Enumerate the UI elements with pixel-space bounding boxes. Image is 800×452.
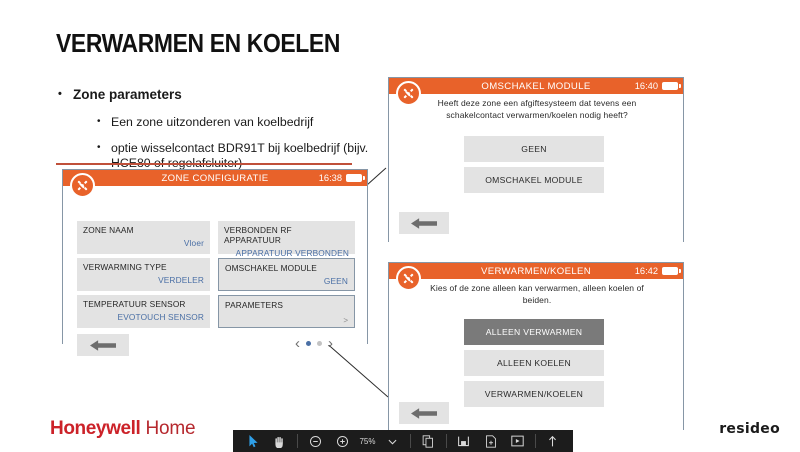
toolbar-separator [297, 434, 298, 448]
tile-zone-naam[interactable]: ZONE NAAM Vloer [77, 221, 210, 254]
tile-label: VERBONDEN RF APPARATUUR [224, 225, 349, 245]
tile-parameters[interactable]: PARAMETERS > [218, 295, 355, 328]
bullet-level2-b: optie wisselcontact BDR91T bij koelbedri… [96, 141, 386, 171]
tile-label: ZONE NAAM [83, 225, 204, 235]
option-alleen-koelen[interactable]: ALLEEN KOELEN [464, 350, 604, 376]
orange-divider [56, 163, 352, 165]
option-verwarmen-koelen[interactable]: VERWARMEN/KOELEN [464, 381, 604, 407]
tile-temperatuur-sensor[interactable]: TEMPERATUUR SENSOR EVOTOUCH SENSOR [77, 295, 210, 328]
option-label: ALLEEN KOELEN [497, 358, 571, 368]
panel-omschakel-module: OMSCHAKEL MODULE 16:40 Heeft deze zone e… [388, 77, 684, 242]
home-wordmark: Home [140, 418, 195, 439]
option-alleen-verwarmen[interactable]: ALLEEN VERWARMEN [464, 319, 604, 345]
honeywell-home-logo: Honeywell Home [50, 418, 195, 440]
tile-value: EVOTOUCH SENSOR [83, 312, 204, 322]
slideshow-icon[interactable] [505, 430, 530, 452]
panel-title: OMSCHAKEL MODULE [481, 81, 590, 92]
honeywell-wordmark: Honeywell [50, 418, 140, 439]
question-text: Heeft deze zone een afgiftesysteem dat t… [429, 98, 645, 121]
arrow-left-icon [89, 339, 117, 352]
toolbar-separator [446, 434, 447, 448]
resideo-logo: resideo [719, 421, 780, 437]
copy-page-icon[interactable] [416, 430, 441, 452]
pager[interactable]: ‹ › [295, 336, 333, 351]
tile-label: OMSCHAKEL MODULE [225, 263, 348, 273]
pager-dot-active[interactable] [306, 341, 311, 346]
option-geen[interactable]: GEEN [464, 136, 604, 162]
tile-verwarming-type[interactable]: VERWARMING TYPE VERDELER [77, 258, 210, 291]
cursor-icon[interactable] [241, 430, 266, 452]
zoom-in-icon[interactable] [330, 430, 355, 452]
save-icon[interactable] [452, 430, 477, 452]
back-button[interactable] [77, 334, 129, 356]
tile-label: TEMPERATUUR SENSOR [83, 299, 204, 309]
panel-verwarmen-koelen: VERWARMEN/KOELEN 16:42 Kies of de zone a… [388, 262, 684, 430]
option-label: OMSCHAKEL MODULE [485, 175, 583, 185]
arrow-left-icon [410, 407, 438, 420]
clock: 16:42 [635, 266, 658, 276]
panel-title: ZONE CONFIGURATIE [161, 173, 268, 184]
zoom-level-label[interactable]: 75% [356, 437, 378, 446]
question-text: Kies of de zone alleen kan verwarmen, al… [425, 283, 649, 306]
toolbar-separator [410, 434, 411, 448]
tile-omschakel-module[interactable]: OMSCHAKEL MODULE GEEN [218, 258, 355, 291]
clock: 16:38 [319, 173, 342, 183]
back-button[interactable] [399, 402, 449, 424]
zoom-out-icon[interactable] [303, 430, 328, 452]
clock: 16:40 [635, 81, 658, 91]
upload-icon[interactable] [540, 430, 565, 452]
option-label: ALLEEN VERWARMEN [486, 327, 583, 337]
tile-verbonden-rf-apparatuur[interactable]: VERBONDEN RF APPARATUUR APPARATUUR VERBO… [218, 221, 355, 254]
tile-value: Vloer [83, 238, 204, 248]
battery-icon [662, 82, 678, 90]
wrench-icon [70, 173, 95, 198]
panel-body: Kies of de zone alleen kan verwarmen, al… [389, 279, 683, 431]
page-title: VERWARMEN EN KOELEN [56, 28, 340, 59]
tile-label: VERWARMING TYPE [83, 262, 204, 272]
tile-value: APPARATUUR VERBONDEN [224, 248, 349, 258]
battery-icon [662, 267, 678, 275]
panel-header: ZONE CONFIGURATIE 16:38 [63, 170, 367, 186]
chevron-down-icon[interactable] [380, 430, 405, 452]
viewer-toolbar[interactable]: 75% [233, 430, 573, 452]
pager-dot[interactable] [317, 341, 322, 346]
tile-value: GEEN [225, 276, 348, 286]
bullet-list: Zone parameters Een zone uitzonderen van… [56, 86, 386, 171]
battery-icon [346, 174, 362, 182]
tile-label: PARAMETERS [225, 300, 348, 310]
bullet-level1: Zone parameters [56, 86, 386, 104]
pager-prev-icon[interactable]: ‹ [295, 336, 300, 351]
add-page-icon[interactable] [478, 430, 503, 452]
pager-next-icon[interactable]: › [328, 336, 333, 351]
panel-title: VERWARMEN/KOELEN [481, 266, 591, 277]
panel-header: OMSCHAKEL MODULE 16:40 [389, 78, 683, 94]
wrench-icon [396, 266, 421, 291]
option-label: GEEN [521, 144, 547, 154]
slide-canvas: VERWARMEN EN KOELEN Zone parameters Een … [0, 0, 800, 452]
panel-body: Heeft deze zone een afgiftesysteem dat t… [389, 94, 683, 243]
back-button[interactable] [399, 212, 449, 234]
panel-body: ZONE NAAM Vloer VERBONDEN RF APPARATUUR … [63, 186, 367, 345]
option-label: VERWARMEN/KOELEN [485, 389, 583, 399]
option-omschakel-module[interactable]: OMSCHAKEL MODULE [464, 167, 604, 193]
tile-value: VERDELER [83, 275, 204, 285]
chevron-right-icon: > [225, 316, 348, 325]
bullet-level2-a: Een zone uitzonderen van koelbedrijf [96, 115, 386, 130]
toolbar-separator [535, 434, 536, 448]
hand-icon[interactable] [268, 430, 293, 452]
wrench-icon [396, 81, 421, 106]
panel-header: VERWARMEN/KOELEN 16:42 [389, 263, 683, 279]
arrow-left-icon [410, 217, 438, 230]
panel-zone-configuratie: ZONE CONFIGURATIE 16:38 ZONE NAAM Vloer [62, 169, 368, 344]
